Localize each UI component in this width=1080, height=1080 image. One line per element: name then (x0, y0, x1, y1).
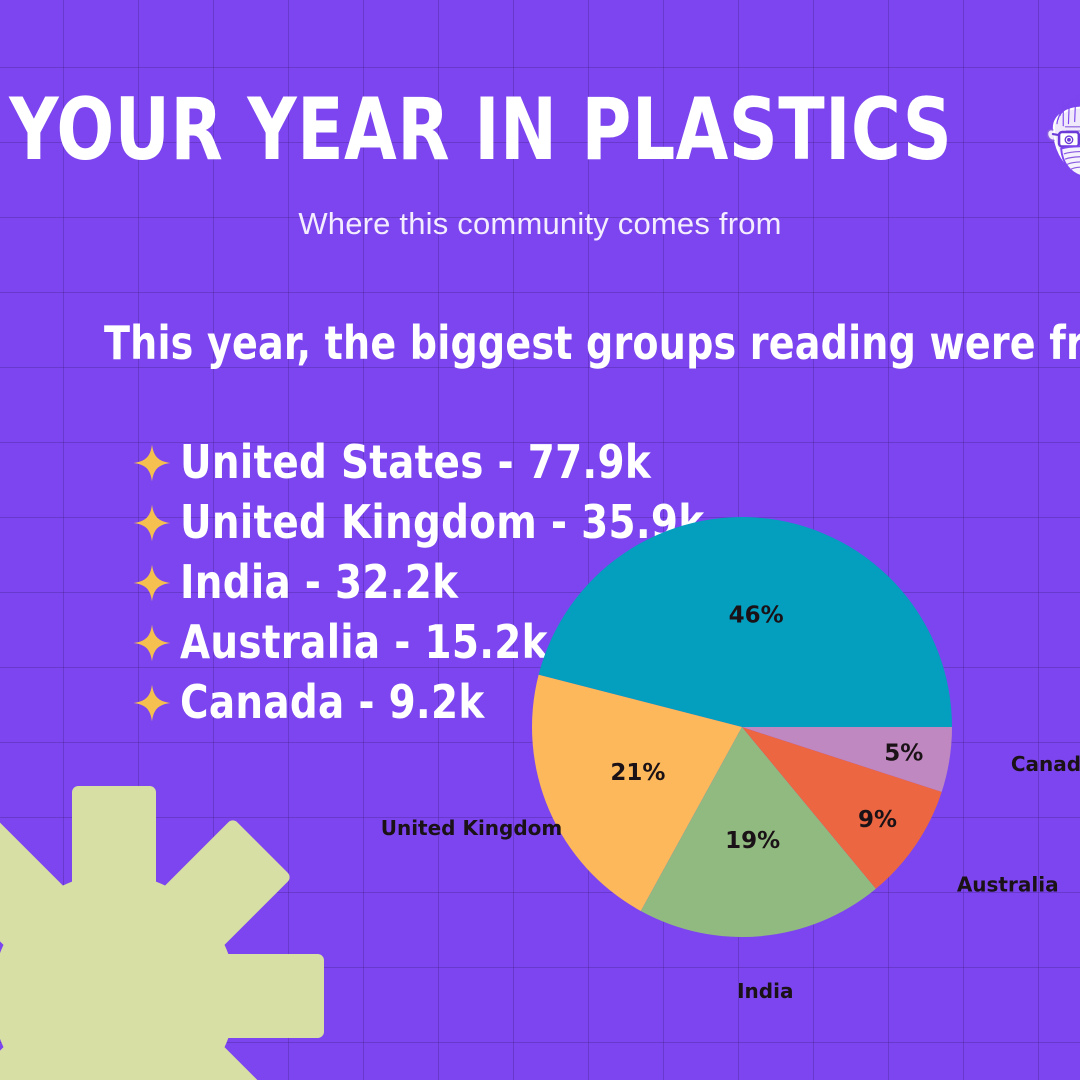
pie-chart: 46%21%19%9%5% United StatesUnited Kingdo… (330, 455, 1080, 1035)
page-subtitle: Where this community comes from (0, 206, 1080, 242)
pie-percent-label: 5% (884, 741, 923, 767)
page-title: YOUR YEAR IN PLASTICS (10, 90, 953, 172)
header: YOUR YEAR IN PLASTICS (0, 0, 1080, 242)
title-row: YOUR YEAR IN PLASTICS (0, 78, 1080, 184)
pie-category-label: Canada (1011, 752, 1080, 776)
pie-category-label: United Kingdom (381, 816, 563, 840)
pie-category-label: India (737, 979, 793, 1003)
pie-percent-label: 9% (858, 807, 897, 833)
sparkle-star-icon (132, 443, 172, 483)
pie-percent-label: 21% (610, 760, 665, 786)
lead-text: This year, the biggest groups reading we… (104, 316, 1080, 370)
pie-percent-label: 19% (725, 828, 780, 854)
sparkle-star-icon (132, 563, 172, 603)
pie-percent-label: 46% (729, 603, 784, 629)
sparkle-star-icon (132, 683, 172, 723)
asterisk-burst-icon (0, 786, 324, 1080)
masked-face-with-glasses-icon (1031, 80, 1080, 184)
sparkle-star-icon (132, 623, 172, 663)
pie-category-label: United States (697, 455, 851, 458)
infographic-canvas: YOUR YEAR IN PLASTICS (0, 0, 1080, 1080)
sparkle-star-icon (132, 503, 172, 543)
pie-slices (532, 517, 952, 937)
pie-chart-svg: 46%21%19%9%5% United StatesUnited Kingdo… (330, 455, 1080, 1035)
pie-category-label: Australia (957, 873, 1059, 897)
